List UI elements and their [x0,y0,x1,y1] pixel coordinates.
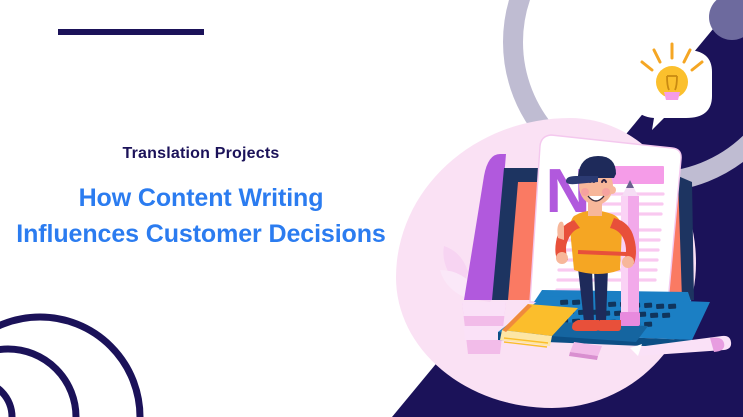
monitor-illustration [464,154,540,300]
headline-line-2: Influences Customer Decisions [0,217,402,253]
lightbulb-speech-bubble [632,44,712,130]
hero-illustration: N [392,0,743,417]
page-title: How Content Writing Influences Customer … [0,181,402,252]
headline-line-1: How Content Writing [0,181,402,217]
corner-arcs-decoration [0,307,190,417]
banner-canvas: Translation Projects How Content Writing… [0,0,743,417]
character-shoe-left [572,320,599,331]
navy-accent-bar [58,29,204,35]
banner-text-block: Translation Projects How Content Writing… [0,146,402,252]
eraser-illustration [569,342,602,360]
character-shoe-right [596,320,621,331]
eyebrow-label: Translation Projects [0,146,402,162]
